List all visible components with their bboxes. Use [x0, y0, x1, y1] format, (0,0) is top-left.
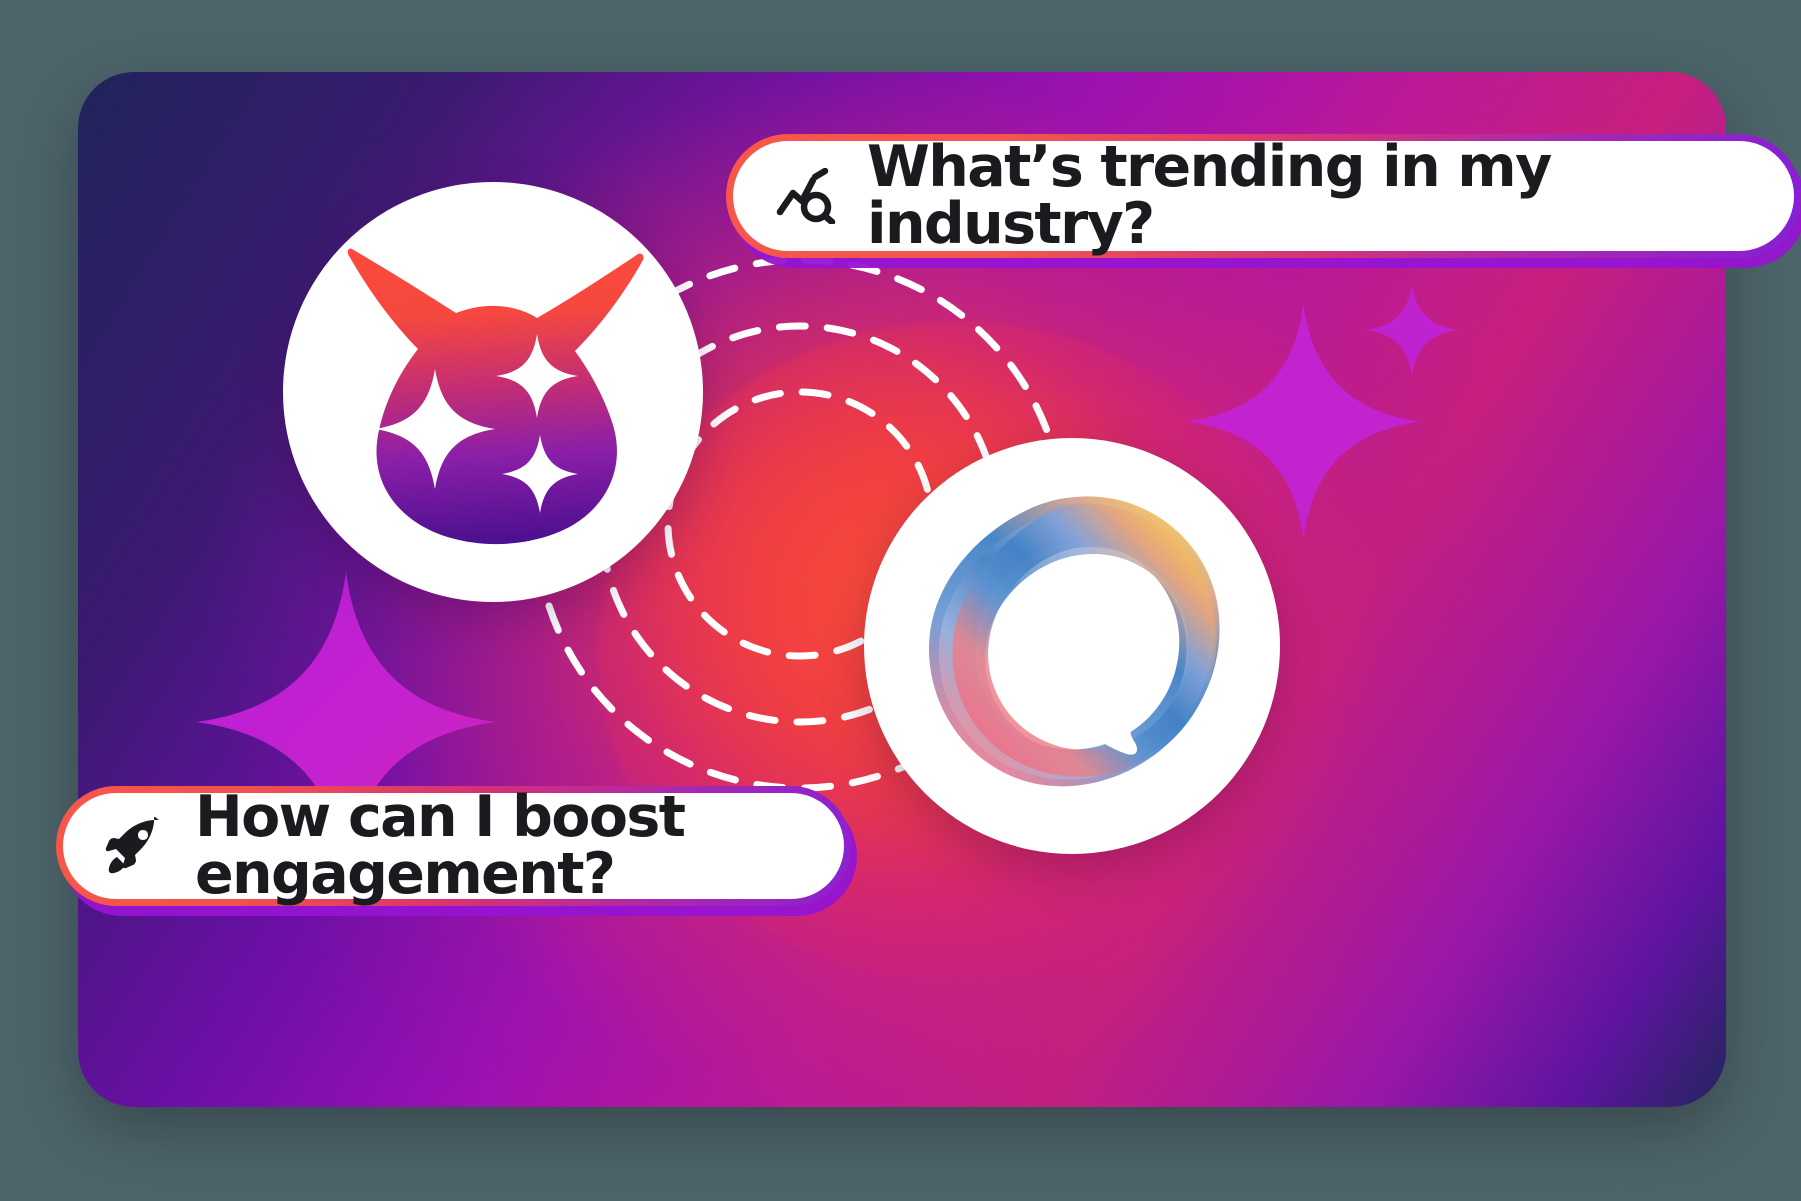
- rocket-icon: [105, 817, 165, 875]
- prompt-pill-trending[interactable]: What’s trending in my industry?: [726, 134, 1801, 258]
- trend-search-icon: [775, 168, 837, 224]
- prompt-label-engagement: How can I boost engagement?: [195, 789, 802, 903]
- swirl-ribbon-logo: [907, 481, 1237, 811]
- swirl-logo-badge: [864, 438, 1280, 854]
- prompt-pill-engagement[interactable]: How can I boost engagement?: [56, 786, 851, 906]
- owl-mascot-logo: [323, 227, 663, 557]
- sparkle-star-small-right: [1366, 284, 1458, 376]
- prompt-label-trending: What’s trending in my industry?: [867, 139, 1752, 253]
- owl-logo-badge: [283, 182, 703, 602]
- screenshot-stage: What’s trending in my industry? How can …: [0, 0, 1801, 1201]
